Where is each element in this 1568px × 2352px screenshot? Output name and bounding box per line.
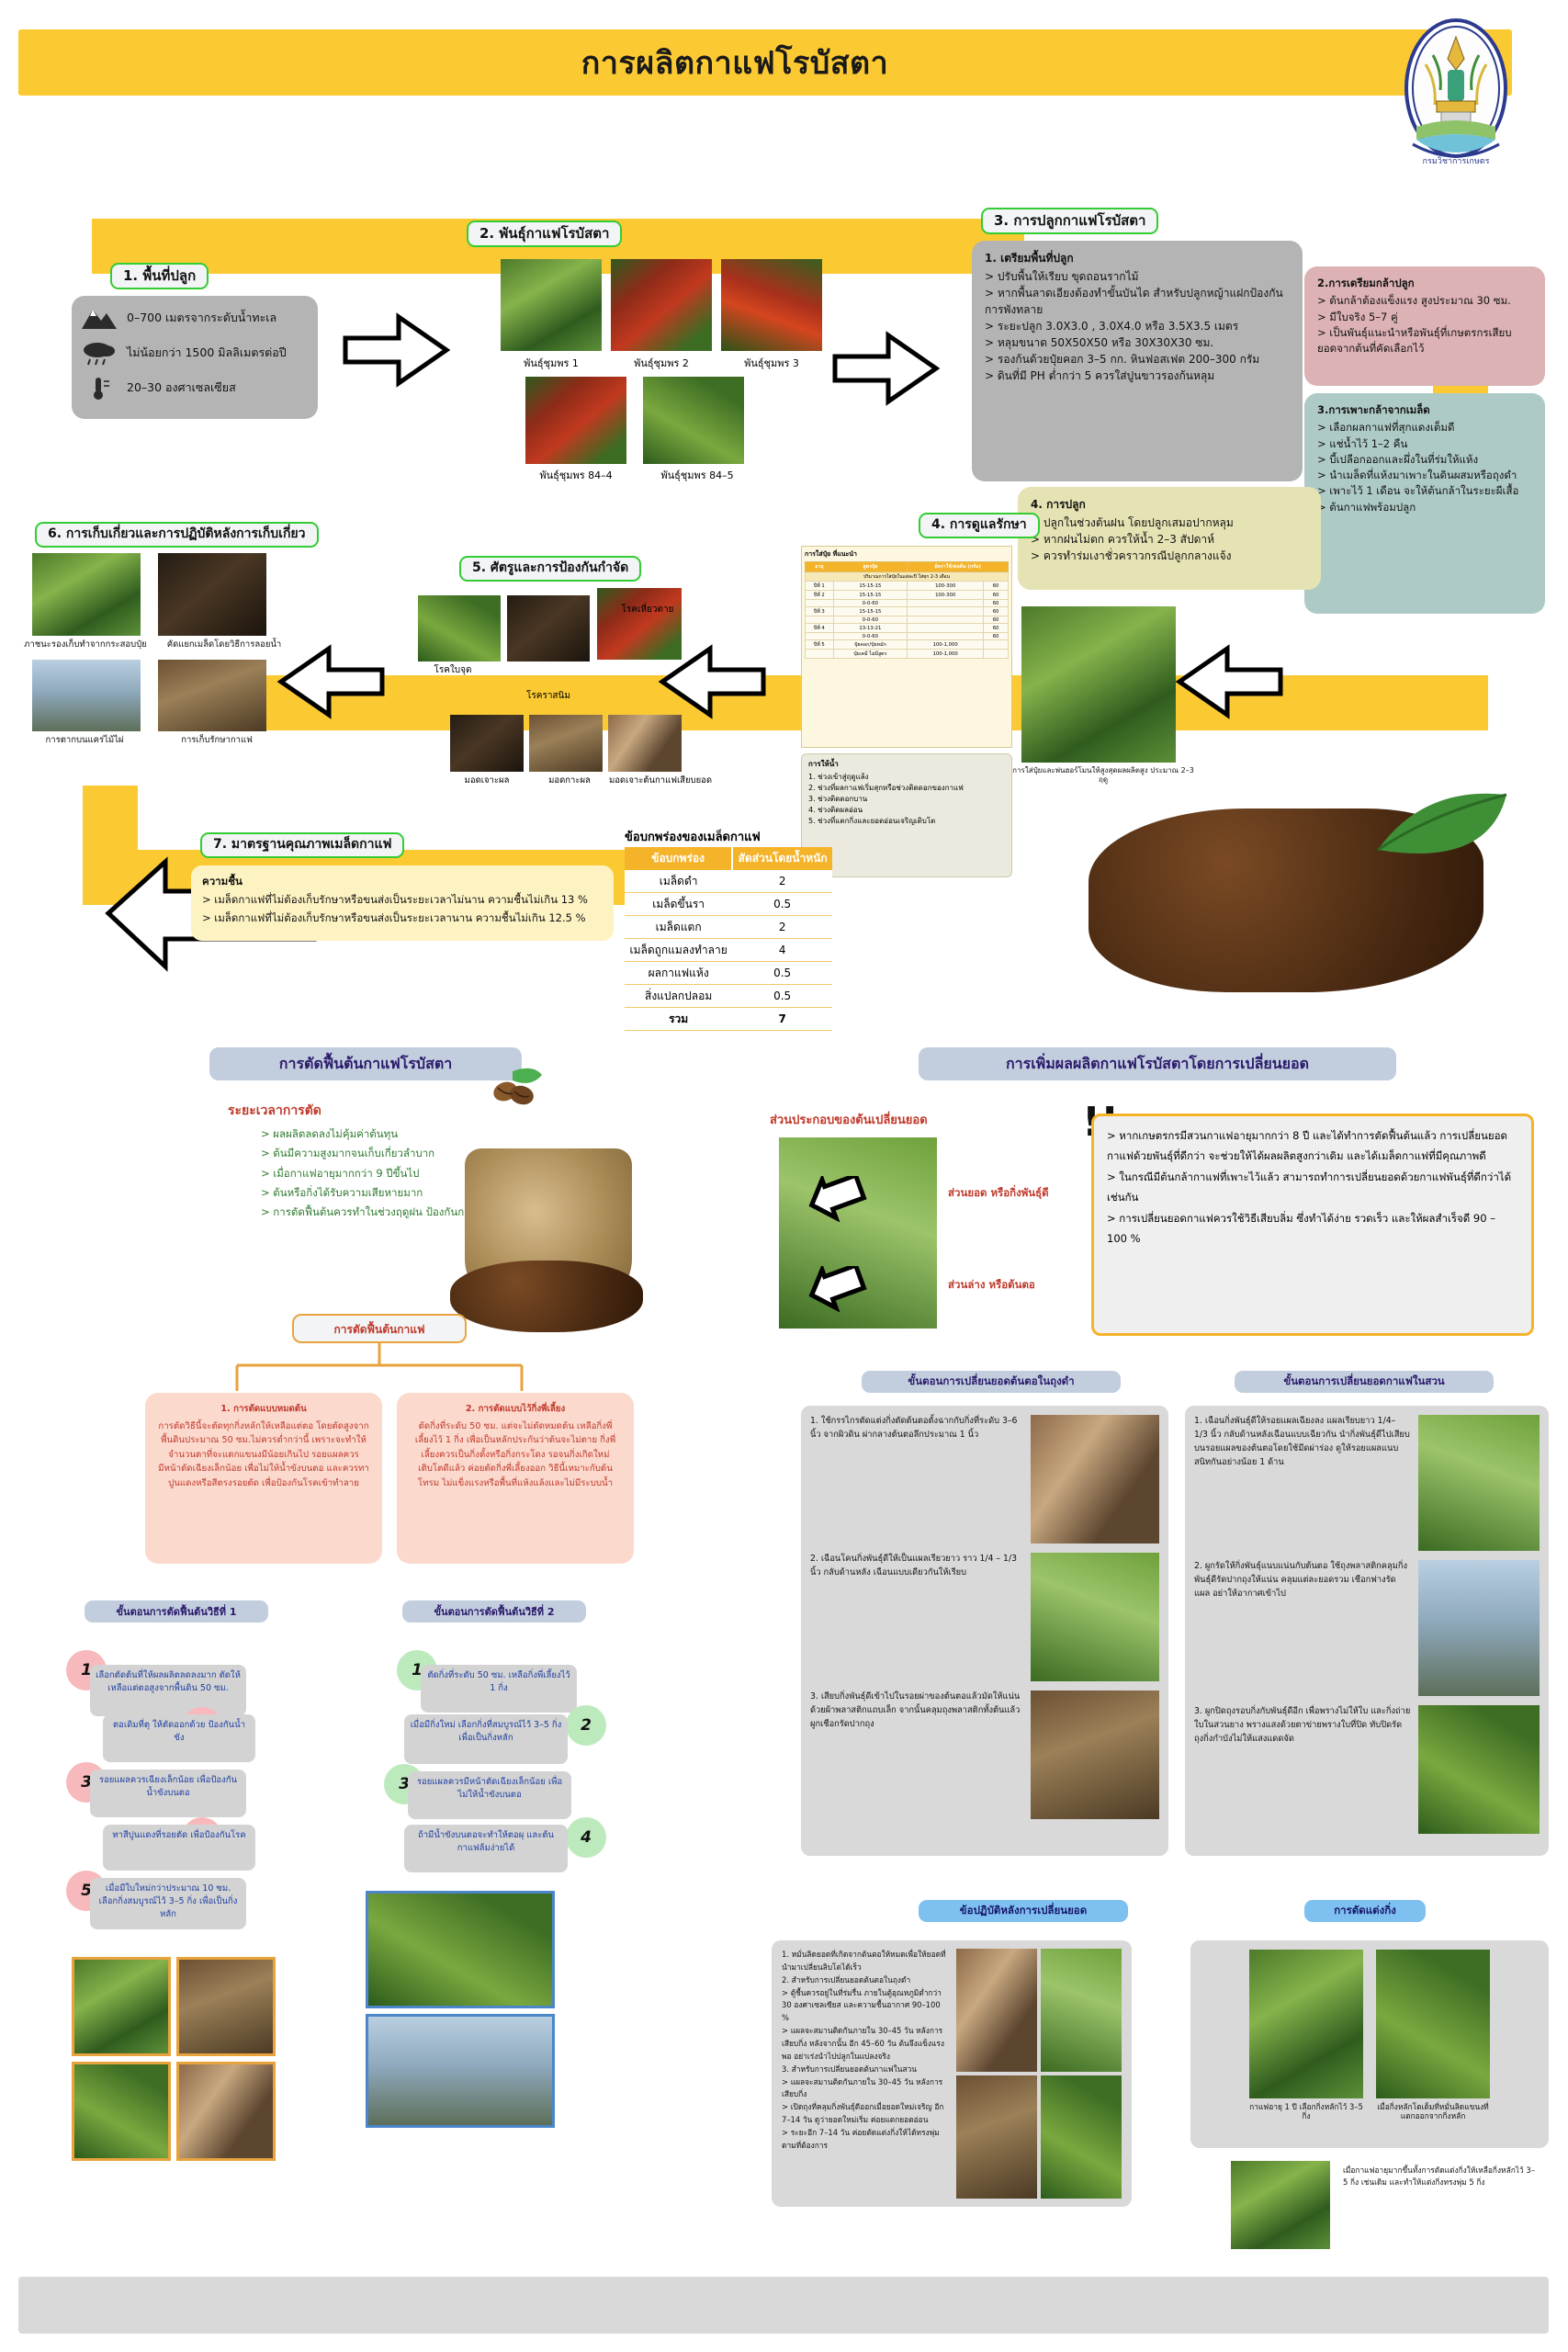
pruning-steps1-title: ขั้นตอนการตัดฟื้นต้นวิธีที่ 1 [85,1600,268,1623]
graft-bag-card: 1. ใช้กรรไกรตัดแต่งกิ่งตัดต้นตอตั้งฉากกั… [801,1406,1168,1856]
aftercare-photo-0 [956,1949,1037,2072]
variety-photo-1 [611,259,712,351]
fert-th-2: อัตราใช้/ต่อต้น (กรัม) [908,562,1009,572]
section7-moisture-card: ความชื้น เมล็ดกาแฟที่ไม่ต้องเก็บรักษาหรื… [191,865,614,941]
graft-bag-photo-2 [1031,1690,1159,1819]
fert-r0c2: 100-300 [908,582,984,591]
variety-photo-3 [525,377,626,464]
section3-box1: 1. เตรียมพื้นที่ปลูก ปรับพื้นให้เรียบ ขุ… [972,241,1303,481]
step-text-2-4: ถ้ามีน้ำขังบนตอจะทำให้ตอผุ และต้นกาแฟล้ม… [404,1825,568,1872]
section3-box1-item-3: หลุมขนาด 50X50X50 หรือ 30X30X30 ซม. [985,334,1290,351]
fertilizer-table: อายุ สูตรปุ๋ย อัตราใช้/ต่อต้น (กรัม) ปริ… [805,561,1009,659]
defects-th-1: สัดส่วนโดยน้ำหนัก [732,847,832,870]
branch-caption-1: เมื่อกิ่งหลักโตเต็มที่หมั่นลิดแขนงที่แตก… [1376,2102,1490,2120]
fert-r5c0: ปีที่ 4 [806,624,834,633]
harvest-photo-2 [32,660,141,731]
variety-photo-2 [721,259,822,351]
fertilizer-table-wrap: การใส่ปุ๋ย ที่แนะนำ อายุ สูตรปุ๋ย อัตราใ… [801,546,1012,748]
coffee-beans-leaf-icon [485,1064,546,1115]
thermometer-icon [79,375,119,401]
mountain-icon [79,305,119,331]
graft-bag-step-2: 3. เสียบกิ่งพันธุ์ดีเข้าไปในรอยผ่าของต้น… [810,1690,1023,1819]
watering-item-1: 2. ช่วงที่ผลกาแฟเริ่มสุกหรือช่วงติดดอกขอ… [808,783,1005,794]
moisture-item-0: เมล็ดกาแฟที่ไม่ต้องเก็บรักษาหรือขนส่งเป็… [202,890,603,909]
pruning-method-1-body: การตัดวิธีนี้จะตัดทุกกิ่งหลักให้เหลือแต่… [158,1419,369,1491]
table-row: ผลกาแฟแห้ง0.5 [625,962,832,985]
pest-photo-5 [608,715,682,772]
fert-th-0: อายุ [806,562,834,572]
pest-label-5: มอดเจาะต้นกาแฟเสียบยอด [588,774,733,787]
aftercare-item-3: แผลจะสมานติดกันภายใน 30–45 วัน หลังการเส… [782,2025,949,2064]
fert-r6c0 [806,633,834,640]
section3-box3-item-2: บี้เปลือกออกและผึ่งในที่ร่มให้แห้ง [1317,452,1532,468]
defects-r5c1: 0.5 [732,985,832,1008]
pruning-photo-1 [176,1957,276,2056]
fert-r4c1: 0-0-60 [833,616,907,624]
pest-photo-1 [507,595,590,661]
pest-photo-4 [529,715,603,772]
pruning-timing-heading: ระยะเวลาการตัด [228,1101,321,1121]
graft-bag-photo-1 [1031,1553,1159,1681]
fert-r3c3: 60 [984,607,1009,616]
defects-r0c0: เมล็ดดำ [625,870,732,893]
section3-box3-item-5: ต้นกาแฟพร้อมปลูก [1317,500,1532,515]
pruning-steps2-title: ขั้นตอนการตัดฟื้นต้นวิธีที่ 2 [402,1600,586,1623]
footer-band [18,2277,1549,2334]
fert-r3c0: ปีที่ 3 [806,607,834,616]
section3-box2-item-1: มีใบจริง 5–7 คู่ [1317,310,1532,325]
table-row: เมล็ดดำ2 [625,870,832,893]
pruning-timing-0: ผลผลิตลดลงไม่คุ้มค่าต้นทุน [261,1125,610,1144]
defects-r3c1: 4 [732,939,832,962]
defects-r0c1: 2 [732,870,832,893]
graft-part-top-label: ส่วนยอด หรือกิ่งพันธุ์ดี [948,1185,1049,1202]
watering-box: การให้น้ำ 1. ช่วงเข้าสู่ฤดูแล้ง 2. ช่วงท… [801,753,1012,877]
page-title: การผลิตกาแฟโรบัสตา [18,37,1451,90]
defects-r4c1: 0.5 [732,962,832,985]
variety-photo-0 [501,259,602,351]
fert-r2c3: 60 [984,600,1009,607]
defects-r5c0: สิ่งแปลกปลอม [625,985,732,1008]
watering-heading: การให้น้ำ [808,759,1005,770]
coffee-beans-pile [450,1261,643,1332]
flow-arrow-2-icon [831,331,940,406]
section1-card: 0–700 เมตรจากระดับน้ำทะเล ไม่น้อยกว่า 15… [72,296,318,419]
fert-r7c1: ปุ๋ยคอก/ปุ๋ยหมัก [833,640,907,650]
fert-r1c1: 15-15-15 [833,591,907,600]
flow-arrow-1-icon [342,312,450,388]
section3-box1-item-5: ดินที่มี PH ต่ำกว่า 5 ควรใส่ปูนขาวรองก้น… [985,367,1290,384]
section3-box4-item-2: ควรทำร่มเงาชั่วคราวกรณีปลูกกลางแจ้ง [1031,548,1308,564]
branch-title: การตัดแต่งกิ่ง [1304,1900,1426,1922]
pruning-node-label: การตัดฟื้นต้นกาแฟ [292,1314,467,1343]
branch-caption-0: กาแฟอายุ 1 ปี เลือกกิ่งหลักไว้ 3–5 กิ่ง [1249,2102,1363,2120]
section5-tag: 5. ศัตรูและการป้องกันกำจัด [459,556,641,582]
step-text-2-2: เมื่อมีกิ่งใหม่ เลือกกิ่งที่สมบูรณ์ไว้ 3… [404,1714,568,1764]
step-bubble-2-2: 2 [566,1705,606,1746]
branch-extra-caption: เมื่อกาแฟอายุมากขึ้นทั้งการตัดแต่งกิ่งให… [1343,2165,1538,2189]
fert-r4c2 [908,616,984,624]
fertilizer-table-title: การใส่ปุ๋ย ที่แนะนำ [805,549,1009,560]
section3-box2: 2.การเตรียมกล้าปลูก ต้นกล้าต้องแข็งแรง ส… [1304,266,1545,386]
section3-box3-item-0: เลือกผลกาแฟที่สุกแดงเต็มดี [1317,420,1532,435]
watering-item-3: 4. ช่วงติดผลอ่อน [808,805,1005,816]
section3-box3-item-1: แช่น้ำไว้ 1–2 คืน [1317,436,1532,452]
moisture-item-1: เมล็ดกาแฟที่ไม่ต้องเก็บรักษาหรือขนส่งเป็… [202,909,603,927]
fert-r6c1: 0-0-60 [833,633,907,640]
harvest-caption-3: การเก็บรักษากาแฟ [158,735,276,745]
harvest-caption-1: คัดแยกเมล็ดโดยวิธีการลอยน้ำ [156,639,292,650]
pruning-connector [184,1341,579,1393]
aftercare-item-7: ระยะอีก 7–14 วัน ค่อยตัดแต่งกิ่งให้ได้ทร… [782,2127,949,2153]
section3-tag: 3. การปลูกกาแฟโรบัสตา [981,208,1158,234]
step-text-2-3: รอยแผลควรมีหน้าตัดเฉียงเล็กน้อย เพื่อไม่… [408,1771,571,1819]
fert-r7c0: ปีที่ 5 [806,640,834,650]
pest-photo-2 [597,588,682,660]
topgraft-title: การเพิ่มผลผลิตกาแฟโรบัสตาโดยการเปลี่ยนยอ… [919,1047,1396,1080]
pest-photo-3 [450,715,524,772]
graft-garden-title: ขั้นตอนการเปลี่ยนยอดกาแฟในสวน [1235,1371,1494,1393]
pruning-photo-5 [366,2014,555,2128]
harvest-caption-0: ภาชนะรองเก็บทำจากกระสอบปุ๋ย [17,639,154,650]
fert-r7c3 [984,640,1009,650]
watering-item-2: 3. ช่วงติดดอกบาน [808,794,1005,805]
aftercare-card: 1. หมั่นลิดยอดที่เกิดจากต้นตอให้หมดเพื่อ… [772,1940,1132,2207]
section3-box1-heading: 1. เตรียมพื้นที่ปลูก [985,250,1290,266]
section2-tag: 2. พันธุ์กาแฟโรบัสตา [467,220,622,247]
pruning-photo-2 [72,2062,171,2161]
table-row: เมล็ดถูกแมลงทำลาย4 [625,939,832,962]
fert-r2c0 [806,600,834,607]
section3-box2-heading: 2.การเตรียมกล้าปลูก [1317,276,1532,291]
topgraft-notes-card: หากเกษตรกรมีสวนกาแฟอายุมากกว่า 8 ปี และไ… [1091,1114,1534,1336]
fert-r3c1: 15-15-15 [833,607,907,616]
graft-bag-step-0: 1. ใช้กรรไกรตัดแต่งกิ่งตัดต้นตอตั้งฉากกั… [810,1415,1023,1543]
fert-r2c2 [908,600,984,607]
graft-bag-photo-0 [1031,1415,1159,1543]
coffee-leaf-decor-icon [1369,786,1516,896]
harvest-caption-2: การตากบนแคร่ไม้ไผ่ [20,735,149,745]
table-row: สิ่งแปลกปลอม0.5 [625,985,832,1008]
graft-garden-photo-1 [1418,1560,1540,1696]
fert-subnote: ปริมาณการใส่ปุ๋ยในแต่ละปี ใส่ทุก 2-3 เดื… [806,572,1009,582]
defects-r6c0: รวม [625,1008,732,1031]
pruning-method-2-heading: 2. การตัดแบบไว้กิ่งพี่เลี้ยง [410,1402,621,1417]
defects-table-wrap: ข้อบกพร่อง สัดส่วนโดยน้ำหนัก เมล็ดดำ2 เม… [625,847,832,1031]
graft-garden-card: 1. เฉือนกิ่งพันธุ์ดีให้รอยแผลเฉียงลง แผล… [1185,1406,1549,1856]
pest-label-1: โรคราสนิม [494,689,603,703]
table-row: เมล็ดแตก2 [625,916,832,939]
aftercare-item-5: แผลจะสมานติดกันภายใน 30–45 วัน หลังการเส… [782,2076,949,2102]
fert-r0c1: 15-15-15 [833,582,907,591]
defects-title: ข้อบกพร่องของเมล็ดกาแฟ [625,827,832,846]
fert-r0c0: ปีที่ 1 [806,582,834,591]
pruning-method-1: 1. การตัดแบบหมดต้น การตัดวิธีนี้จะตัดทุก… [145,1393,382,1564]
section3-box4-item-0: ปลูกในช่วงต้นฝน โดยปลูกเสมอปากหลุม [1031,514,1308,531]
defects-th-0: ข้อบกพร่อง [625,847,732,870]
graft-bottom-arrow-icon [807,1266,867,1312]
section1-item-1-label: ไม่น้อยกว่า 1500 มิลลิเมตรต่อปี [127,344,287,362]
table-row: รวม7 [625,1008,832,1031]
pruning-photo-3 [176,2062,276,2161]
table-row: เมล็ดขึ้นรา0.5 [625,893,832,916]
defects-table: ข้อบกพร่อง สัดส่วนโดยน้ำหนัก เมล็ดดำ2 เม… [625,847,832,1031]
pruning-method-2: 2. การตัดแบบไว้กิ่งพี่เลี้ยง ตัดกิ่งที่ร… [397,1393,634,1564]
section1-item-2-label: 20–30 องศาเซลเซียส [127,379,236,397]
defects-r1c0: เมล็ดขึ้นรา [625,893,732,916]
section4-photo-caption: การใส่ปุ๋ยและพ่นฮอร์โมนให้สูงสุดผลผลิตสู… [1007,766,1200,784]
step-text-1-2: ตอเดิมที่ตุ ให้ตัดออกด้วย ป้องกันน้ำขัง [103,1714,255,1762]
branch-photo-0 [1249,1950,1363,2098]
section3-box4-heading: 4. การปลูก [1031,496,1308,513]
aftercare-item-2: ตู้ชื้นควรอยู่ในที่ร่มรื่น ภายในตู้อุณหภ… [782,1987,949,2026]
department-of-agriculture-emblem: กรมวิชาการเกษตร [1369,17,1543,168]
graft-bag-title: ขั้นตอนการเปลี่ยนยอดต้นตอในถุงดำ [862,1371,1121,1393]
section1-item-0-label: 0–700 เมตรจากระดับน้ำทะเล [127,309,276,327]
section3-box1-item-2: ระยะปลูก 3.0X3.0 , 3.0X4.0 หรือ 3.5X3.5 … [985,318,1290,334]
variety-label-2: พันธุ์ชุมพร 3 [721,355,822,371]
aftercare-photo-1 [1041,1949,1122,2072]
graft-bag-step-1: 2. เฉือนโคนกิ่งพันธุ์ดีให้เป็นแผลเรียวยา… [810,1553,1023,1681]
defects-r1c1: 0.5 [732,893,832,916]
aftercare-item-4: 3. สำหรับการเปลี่ยนยอดต้นกาแฟในสวน [782,2064,949,2076]
fert-r1c0: ปีที่ 2 [806,591,834,600]
section3-box3: 3.การเพาะกล้าจากเมล็ด เลือกผลกาแฟที่สุกแ… [1304,393,1545,614]
defects-r6c1: 7 [732,1008,832,1031]
branch-extra-photo [1231,2161,1330,2249]
topgraft-parts-title: ส่วนประกอบของต้นเปลี่ยนยอด [770,1110,1009,1129]
pruning-photo-4 [366,1891,555,2008]
section3-box3-item-4: เพาะไว้ 1 เดือน จะให้ต้นกล้าในระยะผีเสื้… [1317,483,1532,499]
defects-r3c0: เมล็ดถูกแมลงทำลาย [625,939,732,962]
section1-tag: 1. พื้นที่ปลูก [110,263,209,289]
pest-label-0: โรคใบจุด [404,663,502,677]
watering-item-0: 1. ช่วงเข้าสู่ฤดูแล้ง [808,772,1005,783]
harvest-photo-3 [158,660,266,731]
section3-box3-item-3: นำเมล็ดที่แห้งมาเพาะในดินผสมหรือถุงดำ [1317,468,1532,483]
fert-th-1: สูตรปุ๋ย [833,562,907,572]
section3-box3-heading: 3.การเพาะกล้าจากเมล็ด [1317,402,1532,418]
fert-r7c2: 100-1,000 [908,640,984,650]
pest-photo-0 [418,595,501,661]
defects-r4c0: ผลกาแฟแห้ง [625,962,732,985]
moisture-heading: ความชื้น [202,872,603,890]
section6-tag: 6. การเก็บเกี่ยวและการปฏิบัติหลังการเก็บ… [35,522,319,548]
graft-garden-step-2: 3. ผูกปิดถุงรอบกิ่งกับพันธุ์ดีอีก เพื่อพ… [1194,1705,1411,1834]
section3-box4: 4. การปลูก ปลูกในช่วงต้นฝน โดยปลูกเสมอปา… [1018,487,1321,590]
graft-garden-step-1: 2. ผูกรัดให้กิ่งพันธุ์แนบแน่นกับต้นตอ ใช… [1194,1560,1411,1696]
fert-r1c3: 60 [984,591,1009,600]
variety-label-3: พันธุ์ชุมพร 84–4 [513,467,639,483]
graft-part-bottom-label: ส่วนล่าง หรือต้นตอ [948,1277,1035,1294]
step-text-2-1: ตัดกิ่งที่ระดับ 50 ซม. เหลือกิ่งพี่เลี้ย… [421,1665,577,1713]
pruning-method-1-heading: 1. การตัดแบบหมดต้น [158,1402,369,1417]
fert-r1c2: 100-300 [908,591,984,600]
section4-photo [1021,606,1176,763]
fert-r5c3: 60 [984,624,1009,633]
harvest-photo-0 [32,553,141,636]
aftercare-photo-2 [956,2075,1037,2199]
section3-box1-item-4: รองก้นด้วยปุ๋ยคอก 3–5 กก. หินฟอสเฟต 200–… [985,351,1290,367]
pruning-title: การตัดฟื้นต้นกาแฟโรบัสตา [209,1047,522,1080]
fert-r0c3: 60 [984,582,1009,591]
topgraft-note-1: ในกรณีมีต้นกล้ากาแฟที่เพาะไว้แล้ว สามารถ… [1107,1167,1518,1208]
fert-r2c1: 0-0-60 [833,600,907,607]
flow-arrow-3-icon [1174,643,1284,720]
variety-label-0: พันธุ์ชุมพร 1 [501,355,602,371]
topgraft-note-0: หากเกษตรกรมีสวนกาแฟอายุมากกว่า 8 ปี และไ… [1107,1125,1518,1167]
variety-photo-4 [643,377,744,464]
poster-root: การผลิตกาแฟโรบัสตา กรมวิชาการเกษตร 1. พื [0,0,1568,2352]
section3-box1-item-0: ปรับพื้นให้เรียบ ขุดถอนรากไม้ [985,268,1290,285]
topgraft-note-2: การเปลี่ยนยอดกาแฟควรใช้วิธีเสียบลิ่ม ซึ่… [1107,1208,1518,1249]
variety-label-1: พันธุ์ชุมพร 2 [611,355,712,371]
step-text-1-4: ทาสีปูนแดงที่รอยตัด เพื่อป้องกันโรค [103,1825,255,1871]
step-bubble-2-4: 4 [566,1817,606,1858]
aftercare-photo-3 [1041,2075,1122,2199]
graft-garden-photo-2 [1418,1705,1540,1834]
variety-label-4: พันธุ์ชุมพร 84–5 [634,467,761,483]
step-text-1-1: เลือกตัดต้นที่ให้ผลผลิตลดลงมาก ตัดให้เหล… [90,1665,246,1716]
fert-r5c2 [908,624,984,633]
emblem-caption: กรมวิชาการเกษตร [1423,156,1490,166]
aftercare-item-6: เปิดถุงที่คลุมกิ่งพันธุ์ดีออกเมื่อยอดใหม… [782,2101,949,2127]
fert-r5c1: 13-13-21 [833,624,907,633]
graft-garden-step-0: 1. เฉือนกิ่งพันธุ์ดีให้รอยแผลเฉียงลง แผล… [1194,1415,1411,1551]
pruning-method-2-body: ตัดกิ่งที่ระดับ 50 ซม. แต่จะไม่ตัดหมดต้น… [410,1419,621,1491]
rain-cloud-icon [79,340,119,366]
flow-arrow-5-icon [276,643,386,720]
fert-r6c2 [908,633,984,640]
watering-item-4: 5. ช่วงที่แตกกิ่งและยอดอ่อนเจริญเติบโต [808,816,1005,827]
fert-r6c3: 60 [984,633,1009,640]
section3-box2-item-2: เป็นพันธุ์แนะนำหรือพันธุ์ที่เกษตรกรเสียบ… [1317,325,1532,357]
branch-photo-1 [1376,1950,1490,2098]
section3-box1-item-1: หากพื้นลาดเอียงต้องทำขั้นบันได สำหรับปลู… [985,285,1290,318]
graft-garden-photo-0 [1418,1415,1540,1551]
aftercare-title: ข้อปฏิบัติหลังการเปลี่ยนยอด [919,1900,1128,1922]
branch-card: กาแฟอายุ 1 ปี เลือกกิ่งหลักไว้ 3–5 กิ่ง … [1190,1940,1549,2148]
section3-box4-item-1: หากฝนไม่ตก ควรให้น้ำ 2–3 สัปดาห์ [1031,531,1308,548]
aftercare-item-1: 2. สำหรับการเปลี่ยนยอดต้นตอในถุงดำ [782,1974,949,1987]
pest-label-2: โรคเหี่ยวตาย [597,603,698,616]
fert-r4c3: 60 [984,616,1009,624]
fert-r8c1: ปุ๋ยเคมี ไม่มีสูตร [833,650,907,659]
pruning-photo-0 [72,1957,171,2056]
harvest-photo-1 [158,553,266,636]
fert-r8c2: 100-1,000 [908,650,984,659]
graft-top-arrow-icon [807,1176,867,1222]
fert-r8c3 [984,650,1009,659]
step-text-1-5: เมื่อมีใบใหม่กว่าประมาณ 10 ซม. เลือกกิ่ง… [90,1878,246,1929]
section4-tag: 4. การดูแลรักษา [919,513,1040,538]
section3-box2-item-0: ต้นกล้าต้องแข็งแรง สูงประมาณ 30 ซม. [1317,293,1532,309]
defects-r2c1: 2 [732,916,832,939]
fert-r4c0 [806,616,834,624]
fert-r3c2 [908,607,984,616]
defects-r2c0: เมล็ดแตก [625,916,732,939]
step-text-1-3: รอยแผลควรเฉียงเล็กน้อย เพื่อป้องกันน้ำขั… [90,1770,246,1817]
fert-r8c0 [806,650,834,659]
aftercare-item-0: 1. หมั่นลิดยอดที่เกิดจากต้นตอให้หมดเพื่อ… [782,1949,949,1974]
section7-tag: 7. มาตรฐานคุณภาพเมล็ดกาแฟ [200,832,404,858]
